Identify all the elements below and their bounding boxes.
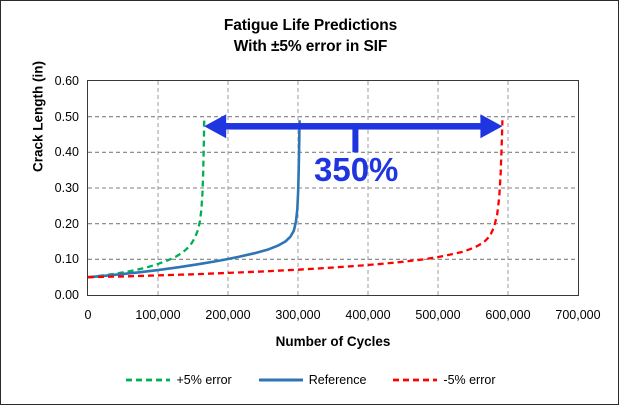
x-tick-label: 200,000 (183, 308, 273, 322)
annotation-350-percent: 350% (314, 151, 398, 189)
y-tick-label: 0.00 (27, 288, 79, 302)
legend-swatch-dashed-line-icon (392, 374, 438, 386)
x-tick-label: 600,000 (463, 308, 553, 322)
legend-label: +5% error (176, 373, 231, 387)
legend-item[interactable]: Reference (258, 373, 367, 387)
y-axis-title: Crack Length (in) (31, 2, 46, 232)
x-tick-label: 0 (43, 308, 133, 322)
chart-page: Fatigue Life Predictions With ±5% error … (0, 0, 619, 405)
x-axis-title: Number of Cycles (87, 334, 579, 349)
legend-item[interactable]: +5% error (125, 373, 231, 387)
legend-item[interactable]: -5% error (392, 373, 495, 387)
chart-title-line1: Fatigue Life Predictions (224, 17, 397, 34)
x-tick-label: 500,000 (393, 308, 483, 322)
y-tick-label: 0.10 (27, 252, 79, 266)
chart-title-line2: With ±5% error in SIF (1, 36, 619, 57)
x-tick-label: 700,000 (533, 308, 619, 322)
x-tick-label: 100,000 (113, 308, 203, 322)
legend-swatch-solid-line-icon (258, 374, 304, 386)
chart-legend: +5% errorReference-5% error (1, 373, 619, 387)
legend-label: Reference (309, 373, 367, 387)
series-line-reference (88, 120, 300, 277)
x-tick-label: 400,000 (323, 308, 413, 322)
chart-title: Fatigue Life Predictions With ±5% error … (1, 15, 619, 57)
legend-label: -5% error (443, 373, 495, 387)
x-tick-label: 300,000 (253, 308, 343, 322)
series-line--5-error (88, 120, 502, 277)
legend-swatch-dashed-line-icon (125, 374, 171, 386)
series-line--5-error (88, 120, 204, 277)
